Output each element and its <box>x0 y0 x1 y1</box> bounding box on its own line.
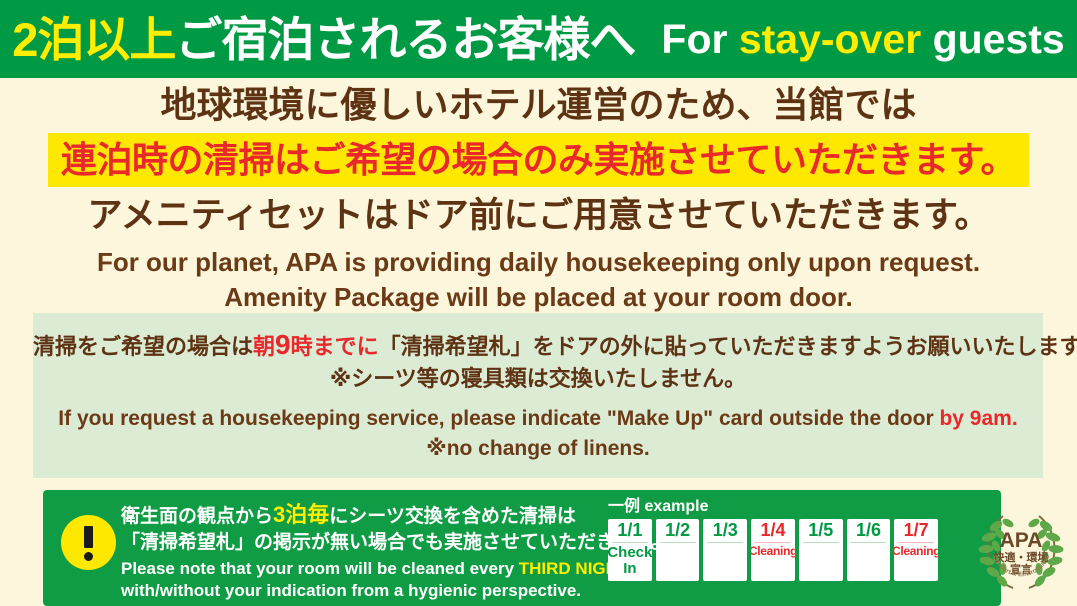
header-english-title: For stay-over guests <box>661 19 1064 60</box>
request-english-line-2: ※no change of linens. <box>33 436 1043 461</box>
calendar-cell-date: 1/6 <box>856 521 881 542</box>
calendar-cell-note: Cleaning <box>894 545 938 558</box>
notice-jp1-highlight: 3泊毎 <box>273 502 329 527</box>
request-jp1-part-a: 清掃をご希望の場合は <box>33 334 253 359</box>
request-japanese-line-2: ※シーツ等の寝具類は交換いたしません。 <box>33 366 1043 392</box>
header-en-post: guests <box>921 16 1065 62</box>
calendar-cell-date: 1/3 <box>713 521 738 542</box>
yellow-band-text: 連泊時の清掃はご希望の場合のみ実施させていただきます。 <box>61 142 1016 178</box>
calendar-cell: 1/6 <box>847 519 891 581</box>
intro-english-line-2: Amenity Package will be placed at your r… <box>0 280 1077 315</box>
calendar-cell: 1/1Check In <box>608 519 652 581</box>
example-calendar-row: 1/1Check In1/21/31/4Cleaning1/51/61/7Cle… <box>608 519 938 581</box>
notice-jp1-part-b: にシーツ交換を含めた清掃は <box>329 506 576 527</box>
notice-japanese-line-2: 「清掃希望札」の掲示が無い場合でも実施させていただきます。 <box>121 530 621 556</box>
calendar-cell-date: 1/4 <box>761 521 786 542</box>
header-en-highlight: stay-over <box>739 16 921 62</box>
example-calendar-label: 一例 example <box>608 498 938 516</box>
third-night-notice-panel: 衛生面の観点から3泊毎にシーツ交換を含めた清掃は 「清掃希望札」の掲示が無い場合… <box>43 490 1001 606</box>
notice-english-line-1: Please note that your room will be clean… <box>121 559 621 580</box>
calendar-cell-divider <box>898 542 934 543</box>
calendar-cell-date: 1/2 <box>665 521 690 542</box>
intro-line-3: アメニティセットはドア前にご用意させていただきます。 <box>0 196 1077 236</box>
exclamation-bar <box>84 526 93 548</box>
notice-japanese-line-1: 衛生面の観点から3泊毎にシーツ交換を含めた清掃は <box>121 500 621 530</box>
notice-jp1-part-a: 衛生面の観点から <box>121 506 273 527</box>
request-english-line-1: If you request a housekeeping service, p… <box>33 406 1043 431</box>
calendar-cell-divider <box>755 542 791 543</box>
yellow-highlight-band: 連泊時の清掃はご希望の場合のみ実施させていただきます。 <box>48 133 1029 187</box>
notice-english-line-2: with/without your indication from a hygi… <box>121 581 621 602</box>
request-en1-part-a: If you request a housekeeping service, p… <box>58 407 939 430</box>
calendar-cell: 1/7Cleaning <box>894 519 938 581</box>
calendar-cell-date: 1/5 <box>808 521 833 542</box>
apa-comfort-environment-seal-logo: APA 快適・環境 宣言 Comfort & Environment <box>975 499 1067 594</box>
calendar-cell-divider <box>803 542 839 543</box>
calendar-cell-date: 1/1 <box>617 521 642 542</box>
request-jp1-part-b: 「清掃希望札」をドアの外に貼っていただきますようお願いいたします。 <box>379 334 1077 359</box>
calendar-cell: 1/4Cleaning <box>751 519 795 581</box>
calendar-cell: 1/2 <box>656 519 700 581</box>
request-jp1-highlight-number: 9 <box>275 329 291 360</box>
header-band: 2泊以上ご宿泊されるお客様へ For stay-over guests <box>0 0 1077 78</box>
header-jp-rest: ご宿泊されるお客様へ <box>175 13 635 66</box>
calendar-cell-note: Check In <box>608 545 652 577</box>
calendar-cell-divider <box>850 542 886 543</box>
request-jp1-highlight-time: 時までに <box>291 334 379 359</box>
calendar-cell-note: Cleaning <box>751 545 795 558</box>
intro-english-line-1: For our planet, APA is providing daily h… <box>0 245 1077 280</box>
calendar-cell-divider <box>707 542 743 543</box>
header-en-pre: For <box>661 16 738 62</box>
header-jp-highlight: 2泊以上 <box>12 13 175 66</box>
exclamation-dot <box>84 552 93 561</box>
header-japanese-title: 2泊以上ご宿泊されるお客様へ <box>12 16 635 63</box>
calendar-cell-divider <box>612 542 648 543</box>
apa-brand-text: APA <box>1000 529 1043 552</box>
intro-english-block: For our planet, APA is providing daily h… <box>0 245 1077 314</box>
calendar-cell-date: 1/7 <box>904 521 929 542</box>
notice-text-block: 衛生面の観点から3泊毎にシーツ交換を含めた清掃は 「清掃希望札」の掲示が無い場合… <box>121 500 621 602</box>
example-calendar: 一例 example 1/1Check In1/21/31/4Cleaning1… <box>608 498 938 581</box>
calendar-cell: 1/5 <box>799 519 843 581</box>
intro-line-1: 地球環境に優しいホテル運営のため、当館では <box>0 84 1077 125</box>
request-jp1-highlight-morning: 朝 <box>253 334 275 359</box>
request-en1-highlight: by 9am. <box>939 407 1017 430</box>
calendar-cell-divider <box>660 542 696 543</box>
request-instructions-panel: 清掃をご希望の場合は朝9時までに「清掃希望札」をドアの外に貼っていただきますよう… <box>33 313 1043 478</box>
exclamation-icon <box>61 515 116 570</box>
notice-en1-part-a: Please note that your room will be clean… <box>121 559 519 578</box>
apa-stayover-notice-poster: 2泊以上ご宿泊されるお客様へ For stay-over guests 地球環境… <box>0 0 1077 606</box>
calendar-cell: 1/3 <box>703 519 747 581</box>
request-japanese-line-1: 清掃をご希望の場合は朝9時までに「清掃希望札」をドアの外に貼っていただきますよう… <box>33 328 1043 362</box>
